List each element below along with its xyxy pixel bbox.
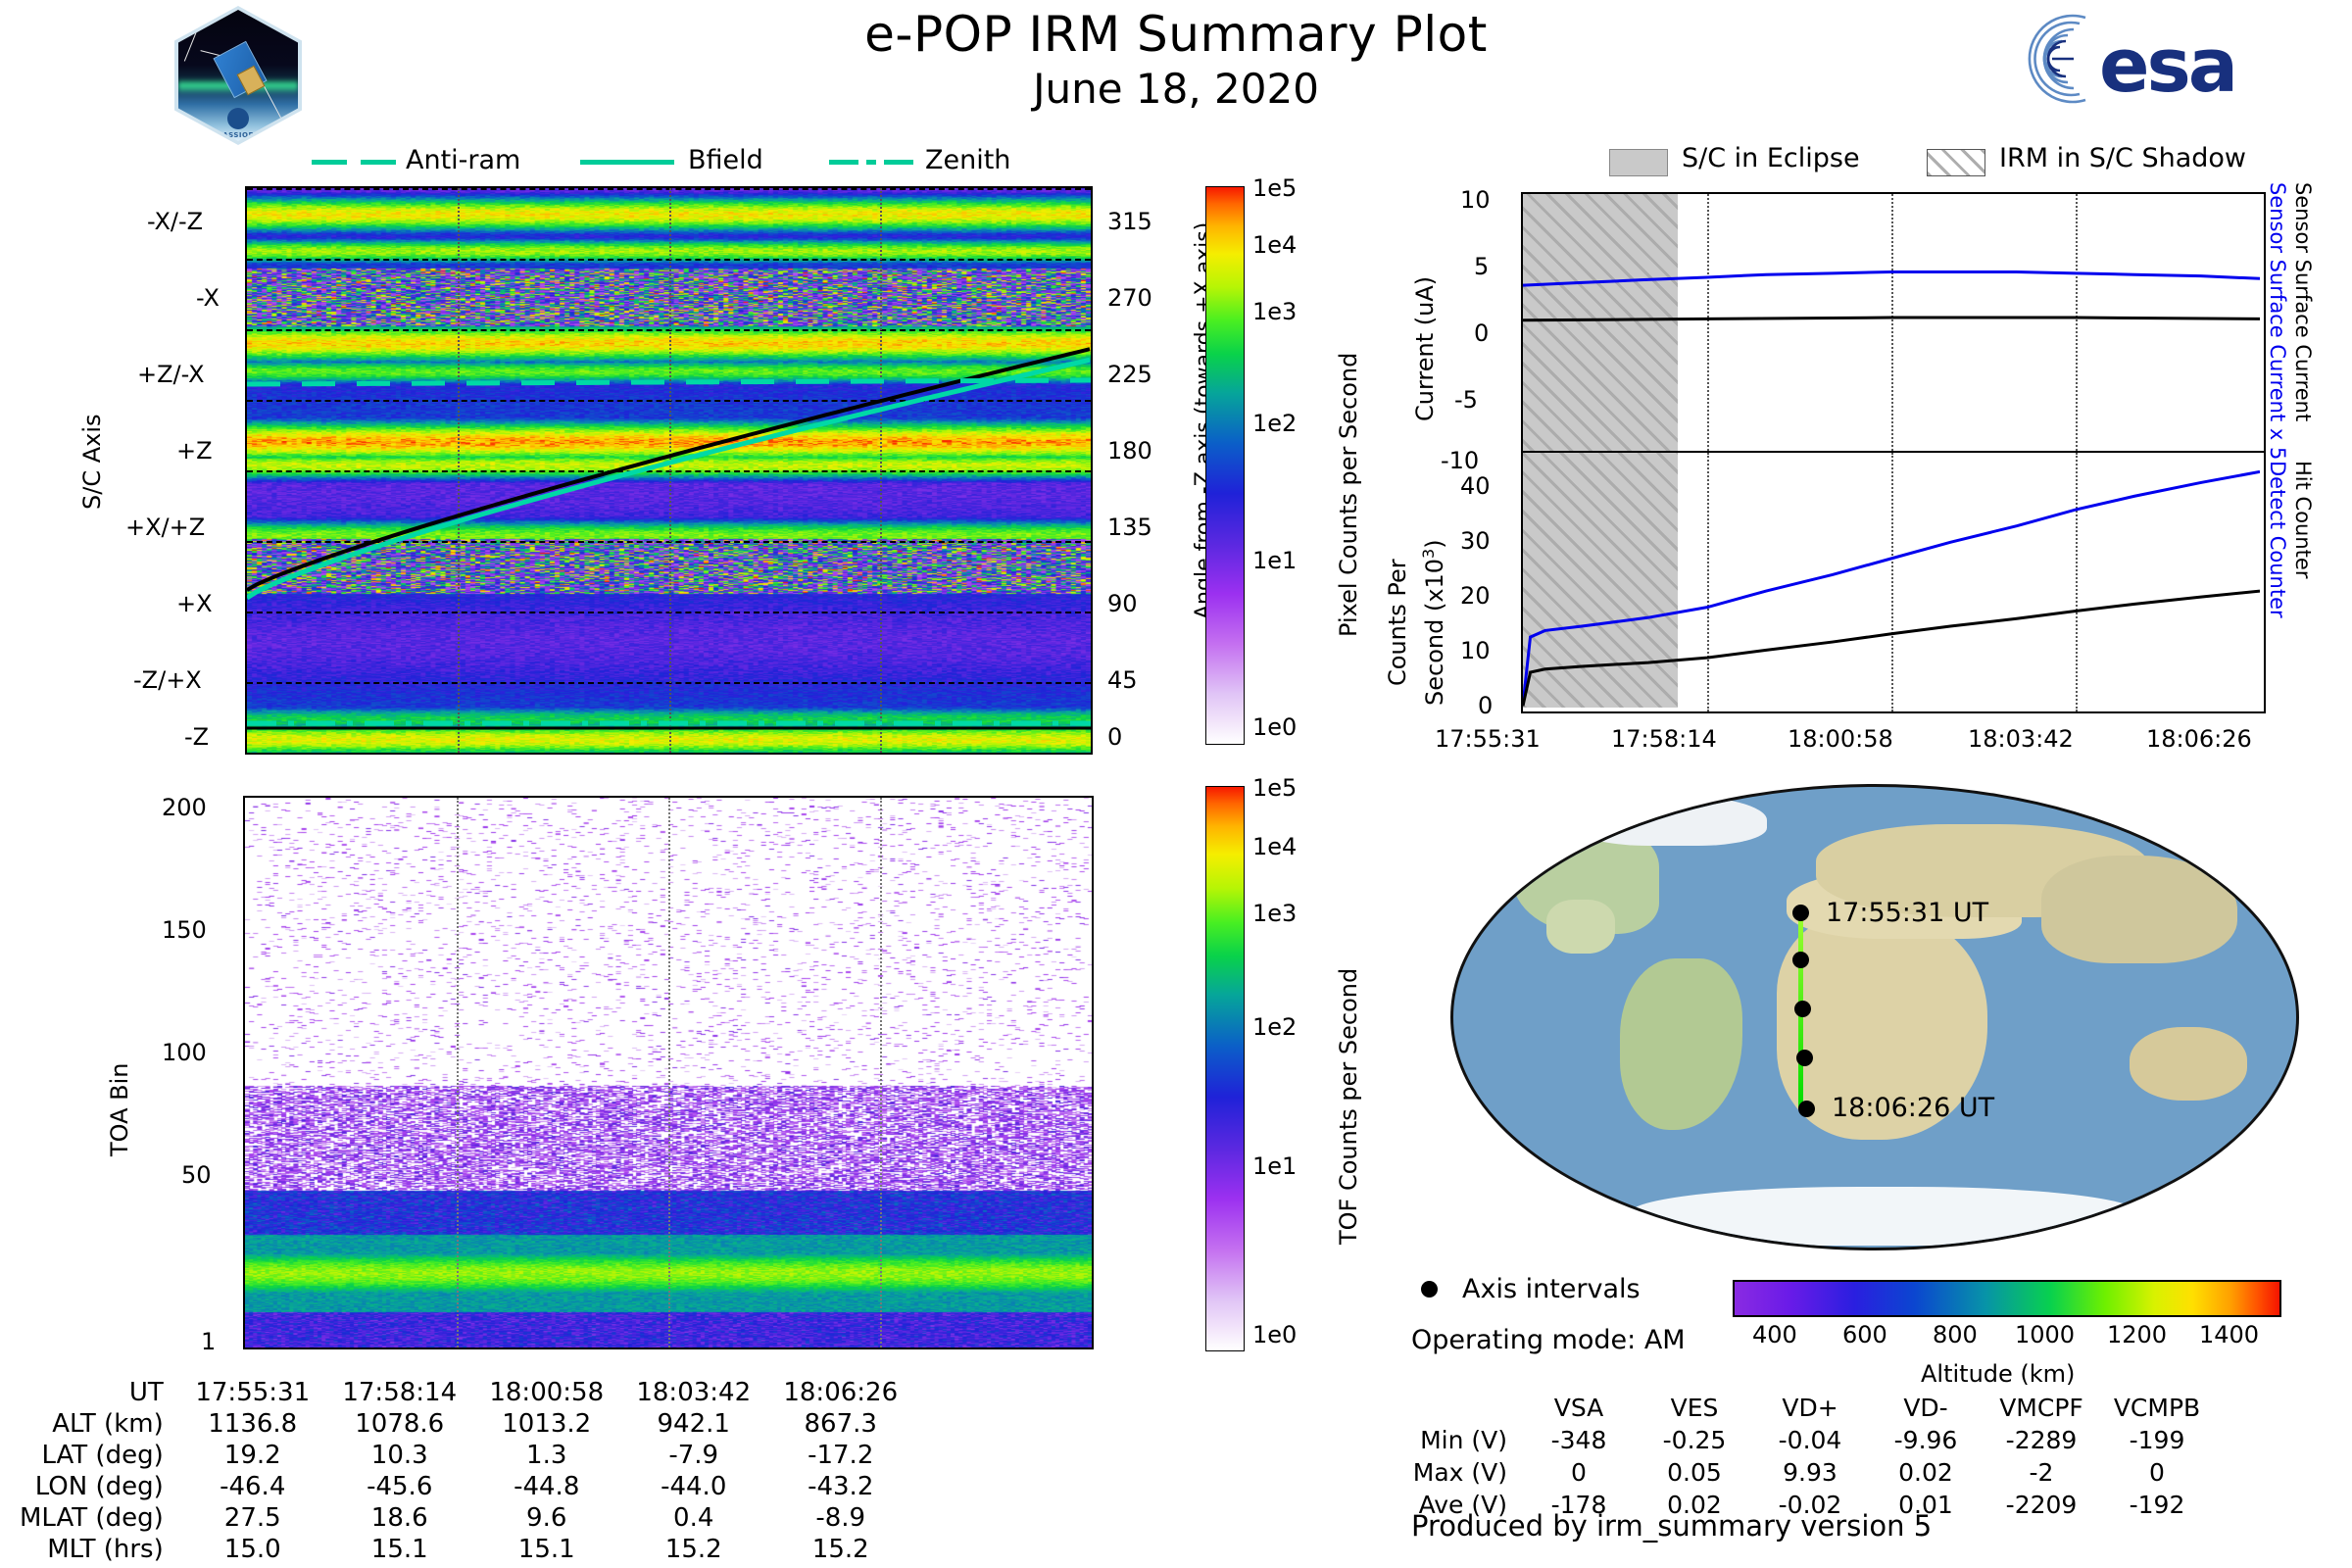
counts-ytick-0: 0 <box>1478 692 1493 719</box>
ephem-cell-r5-c1: 15.1 <box>326 1534 473 1565</box>
page-subtitle: June 18, 2020 <box>0 65 2352 113</box>
pixel-cb-tick-1e0: 1e0 <box>1252 713 1297 741</box>
table-row: ALT (km)1136.81078.61013.2942.1867.3 <box>20 1408 914 1440</box>
angle-ytick-135: 135 <box>1107 514 1152 541</box>
esa-swirl-icon <box>2009 8 2097 110</box>
angle-ytick-45: 45 <box>1107 666 1138 694</box>
voltage-col-header-VSA: VSA <box>1521 1392 1637 1424</box>
alt-tick-1200: 1200 <box>2107 1321 2167 1348</box>
legend-anti-ram-dash2 <box>361 160 396 165</box>
tof-colorbar-label: TOF Counts per Second <box>1335 968 1362 1245</box>
voltage-cell-r1-c3: 0.02 <box>1868 1456 1984 1489</box>
voltage-col-header-VES: VES <box>1637 1392 1752 1424</box>
table-row: UT17:55:3117:58:1418:00:5818:03:4218:06:… <box>20 1377 914 1408</box>
right-xtick-1: 17:58:14 <box>1611 725 1717 753</box>
cntplot-line-0 <box>1523 471 2260 705</box>
counts-plot[interactable] <box>1521 451 2266 713</box>
toa-time-gridline-1 <box>668 798 670 1347</box>
legend-shadow-swatch <box>1927 149 1985 176</box>
counts-ytick-30: 30 <box>1460 527 1491 555</box>
alt-tick-600: 600 <box>1842 1321 1887 1348</box>
right-xtick-3: 18:03:42 <box>1968 725 2074 753</box>
ephem-row-label: LON (deg) <box>20 1471 179 1502</box>
cassiope-mission-patch-logo: CASSIOPE <box>174 6 302 145</box>
ground-track-map[interactable]: 17:55:31 UT 18:06:26 UT <box>1450 784 2299 1250</box>
voltage-row-label: Min (V) <box>1401 1424 1521 1456</box>
ephem-cell-r5-c4: 15.2 <box>767 1534 914 1565</box>
cntplot-line-1 <box>1523 591 2260 706</box>
tof-cb-tick-1e5: 1e5 <box>1252 774 1297 802</box>
curplot-series <box>1523 194 2260 463</box>
ephem-cell-r4-c3: 0.4 <box>620 1502 767 1534</box>
landmass-antarctica <box>1630 1187 2139 1246</box>
tof-cb-tick-1e3: 1e3 <box>1252 900 1297 927</box>
ephem-cell-r2-c0: 19.2 <box>179 1440 326 1471</box>
sc-axis-ytick-1: -X <box>196 284 220 312</box>
angle-ytick-180: 180 <box>1107 437 1152 465</box>
voltage-cell-r1-c1: 0.05 <box>1637 1456 1752 1489</box>
toa-ytick-50: 50 <box>181 1161 212 1189</box>
ephem-row-label: MLAT (deg) <box>20 1502 179 1534</box>
voltage-corner-cell <box>1401 1392 1521 1424</box>
track-marker-0 <box>1792 905 1809 921</box>
angle-ytick-225: 225 <box>1107 361 1152 388</box>
current-right-label-blue: Sensor Surface Current x 5 <box>2266 182 2289 460</box>
alt-tick-400: 400 <box>1752 1321 1797 1348</box>
alt-tick-800: 800 <box>1933 1321 1978 1348</box>
legend-zenith-dash1 <box>829 160 858 165</box>
ephem-cell-r4-c0: 27.5 <box>179 1502 326 1534</box>
voltage-cell-r0-c1: -0.25 <box>1637 1424 1752 1456</box>
toa-ytick-1: 1 <box>201 1328 216 1355</box>
voltage-cell-r1-c4: -2 <box>1984 1456 2099 1489</box>
voltage-cell-r2-c5: -192 <box>2099 1489 2215 1521</box>
table-row: MLT (hrs)15.015.115.115.215.2 <box>20 1534 914 1565</box>
counts-right-label-blue: Detect Counter <box>2266 461 2289 618</box>
ephem-cell-r4-c2: 9.6 <box>473 1502 620 1534</box>
ephem-cell-r0-c0: 17:55:31 <box>179 1377 326 1408</box>
curplot-line-0 <box>1523 271 2260 285</box>
current-ytick-0: 0 <box>1474 319 1489 347</box>
voltage-cell-r0-c2: -0.04 <box>1752 1424 1868 1456</box>
spectrogram-overlay-traces <box>247 188 1091 753</box>
table-row: MLAT (deg)27.518.69.60.4-8.9 <box>20 1502 914 1534</box>
ephem-cell-r1-c1: 1078.6 <box>326 1408 473 1440</box>
alt-tick-1400: 1400 <box>2199 1321 2259 1348</box>
counts-ylabel-line1: Counts Per <box>1384 559 1411 686</box>
ephem-cell-r3-c2: -44.8 <box>473 1471 620 1502</box>
track-marker-1 <box>1792 952 1809 968</box>
sc-axis-ytick-7: -Z <box>184 723 209 751</box>
voltage-cell-r0-c4: -2289 <box>1984 1424 2099 1456</box>
counts-right-label-black: Hit Counter <box>2291 461 2315 578</box>
axis-intervals-label: Axis intervals <box>1462 1274 1641 1304</box>
toa-bin-spectrogram[interactable] <box>243 796 1094 1349</box>
landmass-central-america <box>1546 900 1615 954</box>
sc-axis-ytick-0: -X/-Z <box>147 208 203 235</box>
tof-cb-tick-1e1: 1e1 <box>1252 1152 1297 1180</box>
sc-axis-ytick-2: +Z/-X <box>137 361 205 388</box>
pixel-colorbar-label: Pixel Counts per Second <box>1335 353 1362 637</box>
pixel-cb-tick-1e3: 1e3 <box>1252 298 1297 325</box>
track-start-time-label: 17:55:31 UT <box>1826 898 1988 928</box>
pixel-cb-tick-1e2: 1e2 <box>1252 410 1297 437</box>
sc-axis-ylabel: S/C Axis <box>78 415 106 511</box>
ephem-row-label: ALT (km) <box>20 1408 179 1440</box>
toa-time-gridline-2 <box>880 798 882 1347</box>
current-ytick-m10: -10 <box>1441 447 1479 474</box>
counts-ytick-40: 40 <box>1460 472 1491 500</box>
cntplot-series <box>1523 453 2260 708</box>
right-xtick-0: 17:55:31 <box>1435 725 1541 753</box>
voltage-cell-r0-c0: -348 <box>1521 1424 1637 1456</box>
ephem-cell-r0-c3: 18:03:42 <box>620 1377 767 1408</box>
tof-counts-colorbar <box>1205 786 1245 1351</box>
current-ytick-m5: -5 <box>1454 386 1478 414</box>
voltage-stats-table: VSAVESVD+VD-VMCPFVCMPBMin (V)-348-0.25-0… <box>1401 1392 2215 1521</box>
ephem-cell-r0-c1: 17:58:14 <box>326 1377 473 1408</box>
ephem-cell-r0-c2: 18:00:58 <box>473 1377 620 1408</box>
sc-axis-ytick-4: +X/+Z <box>125 514 205 541</box>
toa-time-gridline-0 <box>457 798 459 1347</box>
ephem-cell-r5-c2: 15.1 <box>473 1534 620 1565</box>
legend-zenith-dot <box>866 160 876 165</box>
angle-ytick-315: 315 <box>1107 208 1152 235</box>
pixel-cb-tick-1e1: 1e1 <box>1252 547 1297 574</box>
sc-axis-ytick-5: +X <box>176 590 213 617</box>
curplot-line-1 <box>1523 318 2260 320</box>
altitude-colorbar <box>1733 1280 2281 1317</box>
ephem-cell-r2-c3: -7.9 <box>620 1440 767 1471</box>
ephem-cell-r2-c4: -17.2 <box>767 1440 914 1471</box>
ephem-cell-r5-c3: 15.2 <box>620 1534 767 1565</box>
tof-cb-tick-1e4: 1e4 <box>1252 833 1297 860</box>
counts-ytick-20: 20 <box>1460 582 1491 610</box>
pixel-cb-tick-1e5: 1e5 <box>1252 174 1297 202</box>
voltage-col-header-VCMPB: VCMPB <box>2099 1392 2215 1424</box>
voltage-cell-r1-c5: 0 <box>2099 1456 2215 1489</box>
operating-mode-label: Operating mode: AM <box>1411 1325 1686 1355</box>
produced-by-footer: Produced by irm_summary version 5 <box>1411 1509 1932 1543</box>
ephem-cell-r1-c0: 1136.8 <box>179 1408 326 1440</box>
sc-axis-spectrogram[interactable] <box>245 186 1093 755</box>
voltage-cell-r0-c5: -199 <box>2099 1424 2215 1456</box>
ephem-cell-r3-c4: -43.2 <box>767 1471 914 1502</box>
toa-ytick-100: 100 <box>162 1039 207 1066</box>
ephem-cell-r1-c2: 1013.2 <box>473 1408 620 1440</box>
current-ytick-10: 10 <box>1460 186 1491 214</box>
ephem-cell-r3-c1: -45.6 <box>326 1471 473 1502</box>
angle-ytick-270: 270 <box>1107 284 1152 312</box>
voltage-cell-r1-c0: 0 <box>1521 1456 1637 1489</box>
voltage-col-header-VD-: VD- <box>1868 1392 1984 1424</box>
legend-eclipse-swatch <box>1609 149 1668 176</box>
counts-ylabel-line2: Second (x103) <box>1419 539 1448 706</box>
legend-item-shadow: IRM in S/C Shadow <box>1999 143 2246 173</box>
voltage-col-header-VD+: VD+ <box>1752 1392 1868 1424</box>
table-row: Min (V)-348-0.25-0.04-9.96-2289-199 <box>1401 1424 2215 1456</box>
pixel-cb-tick-1e4: 1e4 <box>1252 231 1297 259</box>
landmass-australia <box>2130 1027 2247 1101</box>
landmass-asia <box>2041 856 2237 963</box>
ephem-cell-r4-c1: 18.6 <box>326 1502 473 1534</box>
voltage-row-label: Max (V) <box>1401 1456 1521 1489</box>
legend-item-eclipse: S/C in Eclipse <box>1682 143 1860 173</box>
legend-item-bfield: Bfield <box>688 145 763 175</box>
tof-cb-tick-1e0: 1e0 <box>1252 1321 1297 1348</box>
ephem-cell-r1-c4: 867.3 <box>767 1408 914 1440</box>
voltage-col-header-VMCPF: VMCPF <box>1984 1392 2099 1424</box>
table-row: LON (deg)-46.4-45.6-44.8-44.0-43.2 <box>20 1471 914 1502</box>
current-plot[interactable] <box>1521 192 2266 468</box>
track-marker-4 <box>1798 1101 1815 1117</box>
alt-tick-1000: 1000 <box>2015 1321 2075 1348</box>
current-ytick-5: 5 <box>1474 253 1489 280</box>
landmass-greenland-arctic <box>1571 795 1767 846</box>
toa-ytick-150: 150 <box>162 916 207 944</box>
legend-anti-ram-dash1 <box>312 160 347 165</box>
angle-ytick-0: 0 <box>1107 723 1122 751</box>
ephem-cell-r3-c3: -44.0 <box>620 1471 767 1502</box>
esa-logo: esa <box>2009 8 2293 110</box>
angle-ytick-90: 90 <box>1107 590 1138 617</box>
esa-wordmark: esa <box>2099 22 2235 109</box>
ephem-cell-r4-c4: -8.9 <box>767 1502 914 1534</box>
track-marker-2 <box>1794 1001 1811 1017</box>
sc-axis-ytick-3: +Z <box>176 437 213 465</box>
ephem-cell-r0-c4: 18:06:26 <box>767 1377 914 1408</box>
table-header-row: VSAVESVD+VD-VMCPFVCMPB <box>1401 1392 2215 1424</box>
toa-ytick-200: 200 <box>162 794 207 821</box>
page-title: e-POP IRM Summary Plot <box>0 6 2352 63</box>
legend-item-zenith: Zenith <box>925 145 1010 175</box>
track-marker-3 <box>1796 1050 1813 1066</box>
ephem-cell-r2-c2: 1.3 <box>473 1440 620 1471</box>
ephem-row-label: MLT (hrs) <box>20 1534 179 1565</box>
landmass-south-america <box>1620 958 1742 1130</box>
pixel-counts-colorbar <box>1205 186 1245 745</box>
ephem-row-label: UT <box>20 1377 179 1408</box>
current-right-label-black: Sensor Surface Current <box>2291 182 2315 421</box>
legend-item-anti-ram: Anti-ram <box>406 145 520 175</box>
ephemeris-table: UT17:55:3117:58:1418:00:5818:03:4218:06:… <box>20 1377 914 1565</box>
ephem-cell-r1-c3: 942.1 <box>620 1408 767 1440</box>
voltage-cell-r0-c3: -9.96 <box>1868 1424 1984 1456</box>
table-row: Max (V)00.059.930.02-20 <box>1401 1456 2215 1489</box>
patch-label: CASSIOPE <box>178 131 298 139</box>
ephem-row-label: LAT (deg) <box>20 1440 179 1471</box>
ephem-cell-r3-c0: -46.4 <box>179 1471 326 1502</box>
right-xtick-2: 18:00:58 <box>1788 725 1893 753</box>
ephem-cell-r2-c1: 10.3 <box>326 1440 473 1471</box>
voltage-cell-r1-c2: 9.93 <box>1752 1456 1868 1489</box>
track-end-time-label: 18:06:26 UT <box>1832 1093 1994 1123</box>
sc-axis-ytick-6: -Z/+X <box>133 666 202 694</box>
voltage-cell-r2-c4: -2209 <box>1984 1489 2099 1521</box>
table-row: LAT (deg)19.210.31.3-7.9-17.2 <box>20 1440 914 1471</box>
ephem-cell-r5-c0: 15.0 <box>179 1534 326 1565</box>
tof-cb-tick-1e2: 1e2 <box>1252 1013 1297 1041</box>
counts-ytick-10: 10 <box>1460 637 1491 664</box>
current-ylabel: Current (uA) <box>1411 276 1439 421</box>
right-xtick-4: 18:06:26 <box>2146 725 2252 753</box>
legend-bfield-line <box>580 160 674 165</box>
toa-bin-ylabel: TOA Bin <box>106 1062 133 1156</box>
axis-intervals-dot-icon <box>1421 1281 1438 1298</box>
legend-zenith-dash2 <box>884 160 913 165</box>
altitude-colorbar-label: Altitude (km) <box>1921 1360 2075 1388</box>
